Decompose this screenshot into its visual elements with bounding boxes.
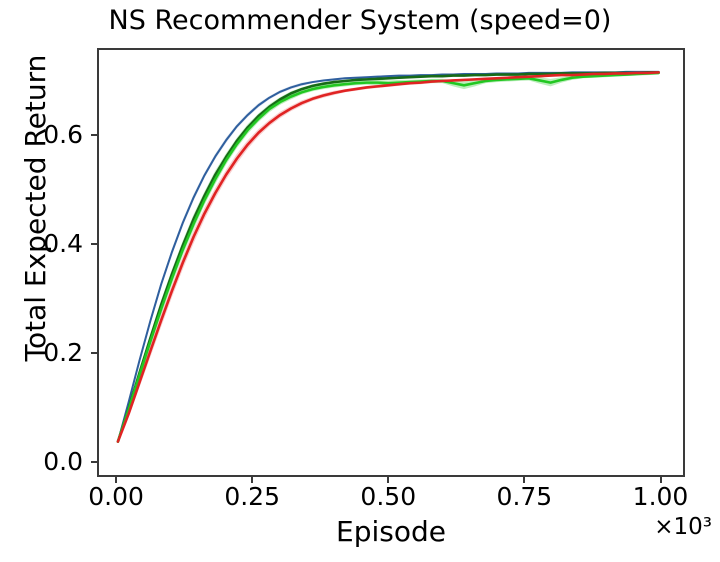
confidence-bands-group [118,71,659,443]
x-tick-label: 0.00 [88,484,144,509]
x-tick-label: 1.00 [633,484,689,509]
plot-svg [99,50,683,475]
y-axis-label: Total Expected Return [20,0,52,428]
x-tick-mark [523,477,525,483]
x-tick-label: 0.25 [224,484,280,509]
y-tick-mark [91,243,97,245]
x-tick-mark [660,477,662,483]
line-bright-green-curve [118,73,659,442]
chart-figure: NS Recommender System (speed=0) 0.00.20.… [0,0,720,562]
confidence-band-blue-curve [118,71,659,443]
y-tick-mark [91,134,97,136]
line-red-curve [118,72,659,441]
x-tick-mark [387,477,389,483]
plot-area [97,48,685,477]
chart-title: NS Recommender System (speed=0) [0,4,720,38]
line-dark-green-curve [118,72,659,441]
line-blue-curve [118,72,659,442]
x-tick-mark [115,477,117,483]
x-tick-label: 0.75 [497,484,553,509]
y-tick-mark [91,461,97,463]
y-tick-label: 0.0 [43,449,83,474]
x-axis-offset-text: ×10³ [0,514,712,540]
x-tick-label: 0.50 [360,484,416,509]
x-tick-mark [251,477,253,483]
confidence-band-dark-green-curve [118,71,659,442]
y-tick-mark [91,352,97,354]
series-lines-group [118,72,659,442]
confidence-band-bright-green-curve [118,71,659,442]
confidence-band-red-curve [118,71,659,442]
